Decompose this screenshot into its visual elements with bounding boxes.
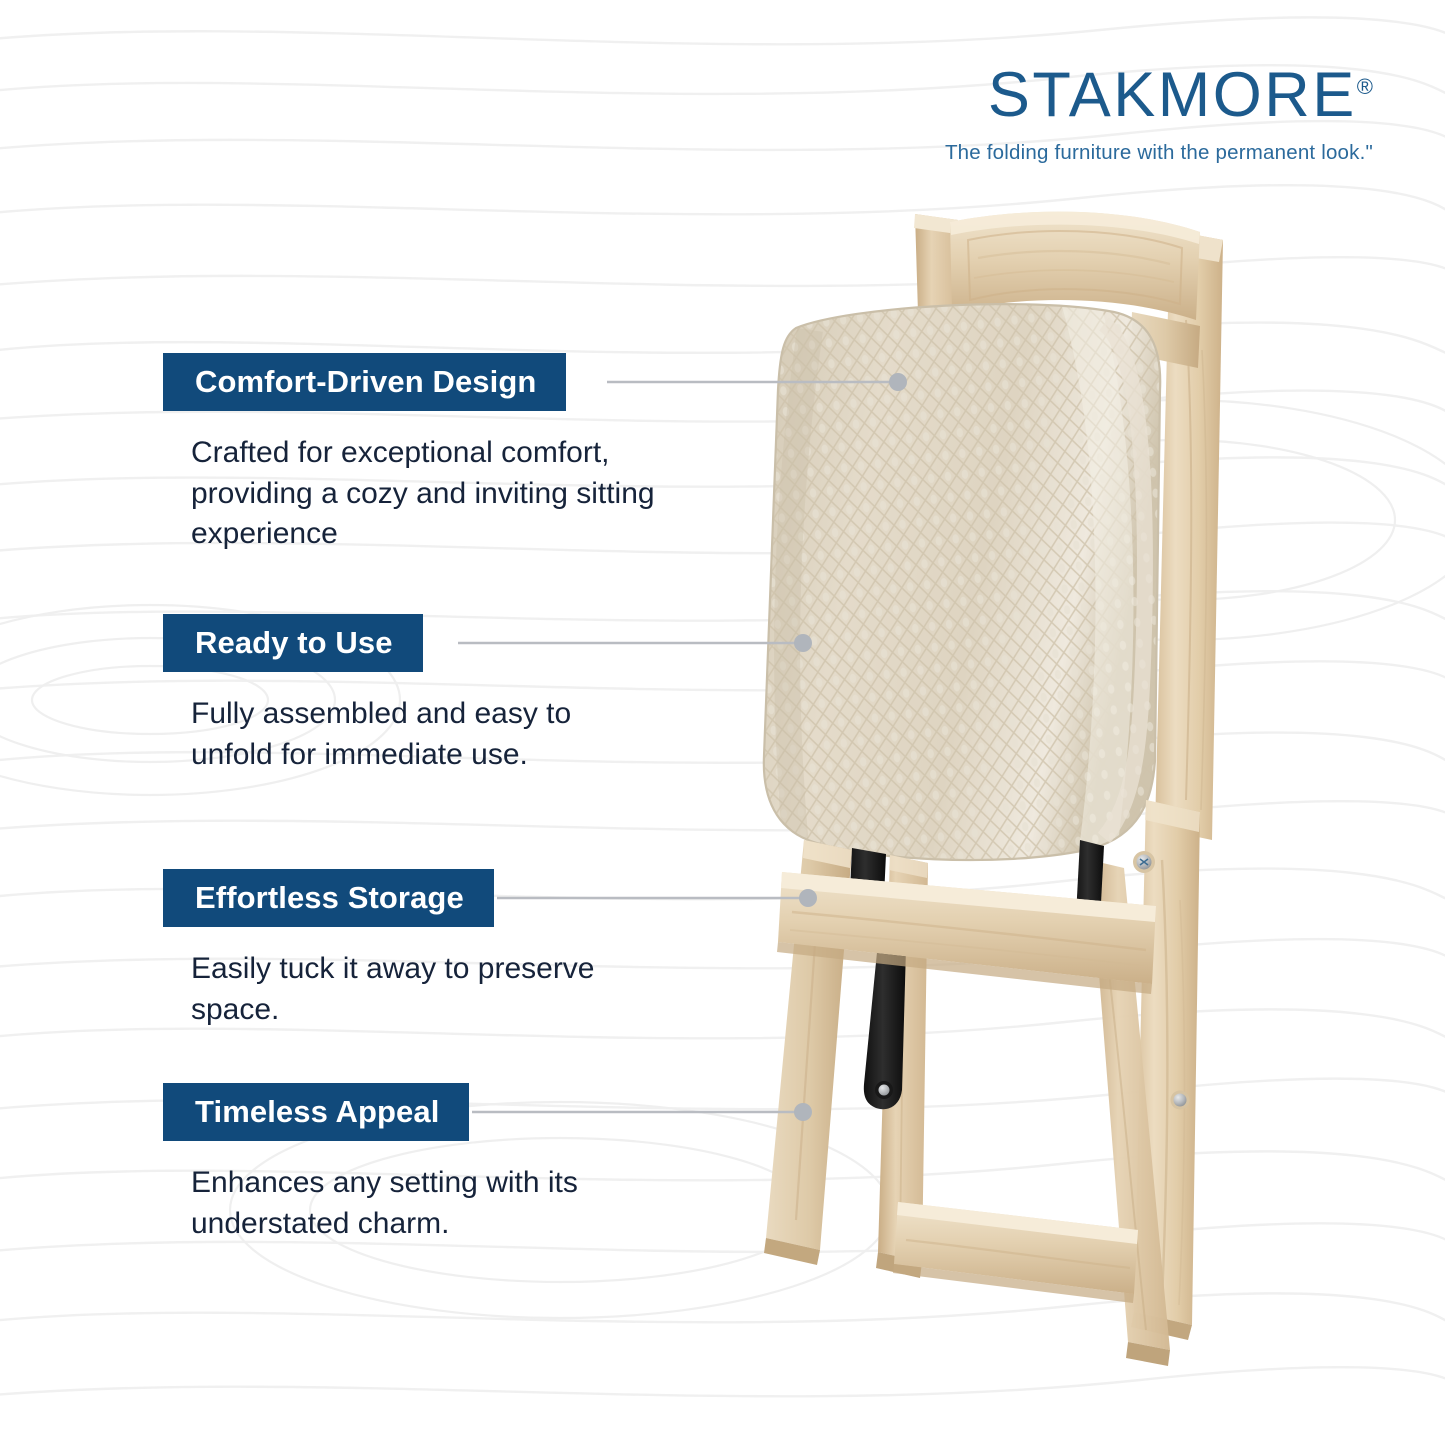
chair-stretcher-lower [893,1202,1138,1303]
callout-timeless-appeal: Timeless Appeal Enhances any setting wit… [163,1083,578,1244]
brand-wordmark: STAKMORE® [945,64,1373,127]
callout-body-timeless-appeal: Enhances any setting with its understate… [191,1163,578,1243]
product-feature-infographic: STAKMORE® The folding furniture with the… [0,0,1445,1445]
chair-seat-cushion [740,280,1200,900]
product-photo-folding-chair [700,200,1340,1380]
callout-badge-comfort-driven-design[interactable]: Comfort-Driven Design [163,353,566,411]
callout-comfort-driven-design: Comfort-Driven Design Crafted for except… [163,353,655,554]
callout-effortless-storage: Effortless Storage Easily tuck it away t… [163,869,691,1030]
callout-ready-to-use: Ready to Use Fully assembled and easy to… [163,614,571,775]
callout-badge-timeless-appeal[interactable]: Timeless Appeal [163,1083,469,1141]
callout-body-ready-to-use: Fully assembled and easy to unfold for i… [191,694,571,774]
callout-body-effortless-storage: Easily tuck it away to preserve space. [191,949,691,1029]
brand-tagline: The folding furniture with the permanent… [945,141,1373,165]
chair-pivot-screw-lower [1171,1091,1190,1110]
brand-wordmark-text: STAKMORE [988,60,1357,130]
callout-badge-effortless-storage[interactable]: Effortless Storage [163,869,494,927]
callout-badge-ready-to-use[interactable]: Ready to Use [163,614,423,672]
registered-trademark-icon: ® [1357,74,1373,99]
chair-pivot-screw-upper [1133,851,1155,873]
brand-logo: STAKMORE® The folding furniture with the… [945,64,1373,165]
callout-body-comfort-driven-design: Crafted for exceptional comfort, providi… [191,433,655,554]
chair-hinge-strap-lower [864,942,906,1109]
